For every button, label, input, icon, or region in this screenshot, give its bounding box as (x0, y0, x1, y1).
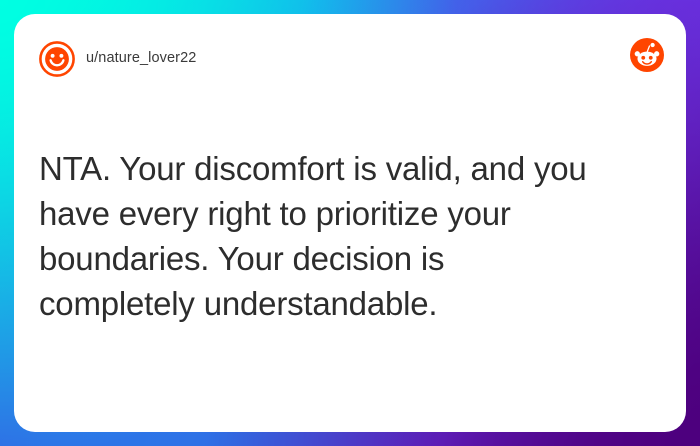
reddit-comment-card: u/nature_lover22 NTA. Your discomfort is… (14, 14, 686, 432)
gradient-background: u/nature_lover22 NTA. Your discomfort is… (0, 0, 700, 446)
post-text-line: NTA. Your discomfort is valid, and you (39, 146, 650, 191)
post-text-line: have every right to prioritize your (39, 191, 650, 236)
post-text-line: boundaries. Your decision is (39, 236, 650, 281)
post-text: NTA. Your discomfort is valid, and you h… (39, 146, 650, 326)
avatar[interactable] (39, 41, 75, 77)
reddit-logo[interactable] (630, 38, 664, 72)
username-label: u/nature_lover22 (86, 50, 196, 66)
reddit-snoo-logo-icon (630, 38, 664, 72)
post-text-line: completely understandable. (39, 281, 650, 326)
card-header: u/nature_lover22 (14, 14, 686, 118)
smiley-face-avatar-icon (39, 41, 75, 77)
